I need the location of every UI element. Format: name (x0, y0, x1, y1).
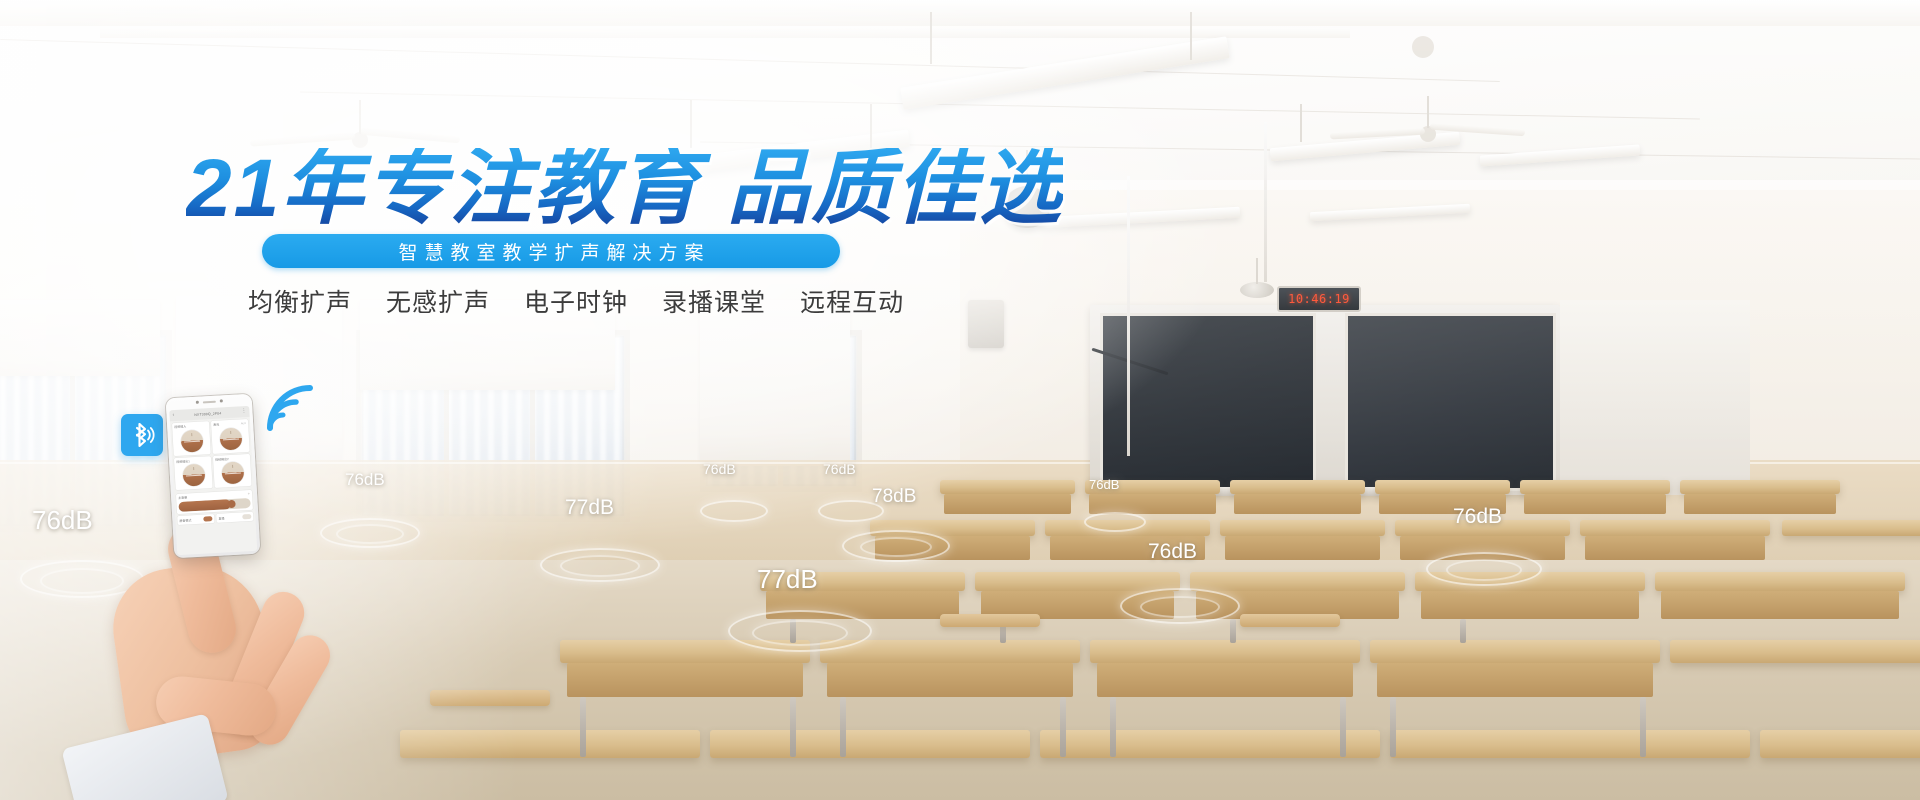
chair (1240, 614, 1340, 627)
desk-leg (1110, 697, 1116, 757)
subtitle-pill: 智慧教室教学扩声解决方案 (262, 234, 840, 268)
desk-front (1089, 494, 1216, 514)
knob-card[interactable]: 视频输出2 (213, 453, 252, 488)
rotary-knob[interactable] (182, 463, 205, 486)
light-rod (1300, 104, 1302, 142)
desk-front (1661, 591, 1899, 619)
desk-front (944, 494, 1071, 514)
desk-front (1524, 494, 1666, 514)
headline-part2: 品质佳选 (727, 143, 1063, 234)
phone-screen[interactable]: ‹ NXT300Q_2F04 ⋮ 视频输入麦克AUX视频输出1视频输出2 主音量… (169, 406, 257, 555)
knob-card[interactable]: 视频输入 (172, 421, 211, 456)
knob-label: 麦克 (213, 423, 219, 427)
app-title: NXT300Q_2F04 (194, 411, 221, 417)
mic-pole (1264, 122, 1267, 282)
blackboard-left (1100, 313, 1316, 491)
desk-front (1400, 536, 1565, 560)
chair (940, 614, 1040, 627)
ceiling-panel (0, 0, 1920, 26)
volume-label: 主音量 (178, 495, 187, 499)
desk-front (1684, 494, 1836, 514)
desk-leg (840, 697, 846, 757)
light-rod (870, 104, 872, 148)
desk (1680, 480, 1840, 494)
feature-item: 电子时钟 (524, 283, 628, 319)
board-side-panel (1560, 300, 1750, 495)
desk-front (1225, 536, 1380, 560)
chair (430, 690, 550, 706)
desk (1085, 480, 1220, 494)
desk (1520, 480, 1670, 494)
smartphone[interactable]: ‹ NXT300Q_2F04 ⋮ 视频输入麦克AUX视频输出1视频输出2 主音量… (166, 394, 261, 559)
feature-item: 录播课堂 (662, 283, 766, 319)
knob-card[interactable]: 视频输出1 (174, 456, 213, 491)
knob-label: 视频输出1 (176, 459, 190, 464)
desk (1655, 572, 1905, 591)
app-button-row: 静音模式直播 (175, 512, 255, 527)
rotary-knob[interactable] (221, 461, 244, 484)
speaker-rod (1256, 258, 1258, 284)
knob-card[interactable]: 麦克AUX (211, 419, 250, 454)
volume-slider-fill (178, 499, 230, 512)
desk (710, 730, 1030, 758)
desk-leg (580, 697, 586, 757)
volume-slider-handle (227, 500, 235, 508)
subtitle-pill-label: 智慧教室教学扩声解决方案 (391, 238, 710, 265)
desk-leg (1340, 697, 1346, 757)
feature-item: 远程互动 (800, 283, 904, 319)
light-rod (690, 100, 692, 148)
desk-front (567, 663, 803, 697)
desk-leg (1390, 697, 1396, 757)
desk-front (827, 663, 1073, 697)
button-label: 静音模式 (179, 518, 191, 523)
window-shade (700, 300, 850, 466)
desk (1395, 520, 1570, 536)
app-toggle-button[interactable]: 直播 (216, 512, 253, 523)
knob-grid: 视频输入麦克AUX视频输出1视频输出2 (170, 417, 254, 492)
desk (1370, 640, 1660, 663)
desk-front (766, 591, 959, 619)
desk (1782, 520, 1920, 536)
volume-slider-card[interactable]: 主音量 + (176, 490, 253, 514)
toggle-indicator[interactable] (203, 516, 212, 521)
desk (1760, 730, 1920, 758)
desk-leg (790, 697, 796, 757)
earpiece-speaker (202, 400, 215, 403)
desk-leg (1460, 619, 1466, 643)
desk (1045, 520, 1210, 536)
feature-item: 均衡扩声 (248, 283, 352, 319)
feature-list: 均衡扩声无感扩声电子时钟录播课堂远程互动 (248, 283, 904, 319)
desk (560, 640, 810, 663)
volume-slider-track[interactable] (178, 498, 250, 512)
proximity-sensor-icon (219, 399, 222, 402)
overflow-menu-icon[interactable]: ⋮ (241, 409, 246, 414)
desk-leg (1230, 619, 1236, 643)
page-title: 21年专注教育品质佳选 (186, 148, 1063, 230)
desk-front (1377, 663, 1653, 697)
desk-leg (1060, 697, 1066, 757)
app-toggle-button[interactable]: 静音模式 (177, 514, 214, 525)
desk-leg (790, 619, 796, 643)
front-camera-icon (195, 401, 198, 404)
fan-rod (1427, 96, 1429, 128)
desk (820, 640, 1080, 663)
knob-label: 视频输入 (174, 424, 186, 429)
light-rod (930, 12, 932, 64)
desk (1670, 640, 1920, 663)
wifi-signal-icon (266, 384, 318, 432)
desk (1390, 730, 1750, 758)
add-icon[interactable]: + (248, 492, 251, 496)
light-rod (1190, 12, 1192, 60)
desk-leg (1640, 697, 1646, 757)
button-label: 直播 (218, 516, 224, 520)
desk (1580, 520, 1770, 536)
desk (1415, 572, 1645, 591)
desk-front (1585, 536, 1765, 560)
desk (940, 480, 1075, 494)
back-chevron-icon[interactable]: ‹ (172, 413, 174, 418)
knob-badge: AUX (241, 422, 247, 425)
desk (760, 572, 965, 591)
desk (1190, 572, 1405, 591)
headline-part1: 21年专注教育 (186, 143, 701, 234)
ceiling-fan-hub (1412, 36, 1434, 58)
feature-item: 无感扩声 (386, 283, 490, 319)
bluetooth-icon (121, 414, 163, 456)
ceiling-panel (100, 28, 1350, 38)
desk-front (1421, 591, 1639, 619)
desk (1220, 520, 1385, 536)
ceiling-speaker-small (1240, 282, 1274, 298)
window-shade (0, 300, 160, 376)
desk-front (875, 536, 1030, 560)
toggle-indicator[interactable] (242, 514, 251, 519)
digital-clock: 10:46:19 (1277, 286, 1361, 312)
blackboard-right (1345, 313, 1556, 491)
clock-time: 10:46:19 (1288, 292, 1350, 306)
desk (1230, 480, 1365, 494)
desk (870, 520, 1035, 536)
desk (1375, 480, 1510, 494)
knob-label: 视频输出2 (215, 457, 229, 462)
desk-front (1234, 494, 1361, 514)
mic-pole (1127, 176, 1130, 456)
desk-front (1379, 494, 1506, 514)
desk (975, 572, 1180, 591)
hero-banner: 10:46:19 (0, 0, 1920, 800)
desk-front (1050, 536, 1205, 560)
rotary-knob[interactable] (180, 429, 203, 452)
wall-speaker (968, 300, 1004, 348)
rotary-knob[interactable] (219, 427, 242, 450)
desk (400, 730, 700, 758)
desk (1090, 640, 1360, 663)
fan-rod (359, 100, 361, 134)
desk-front (1097, 663, 1353, 697)
desk (1040, 730, 1380, 758)
